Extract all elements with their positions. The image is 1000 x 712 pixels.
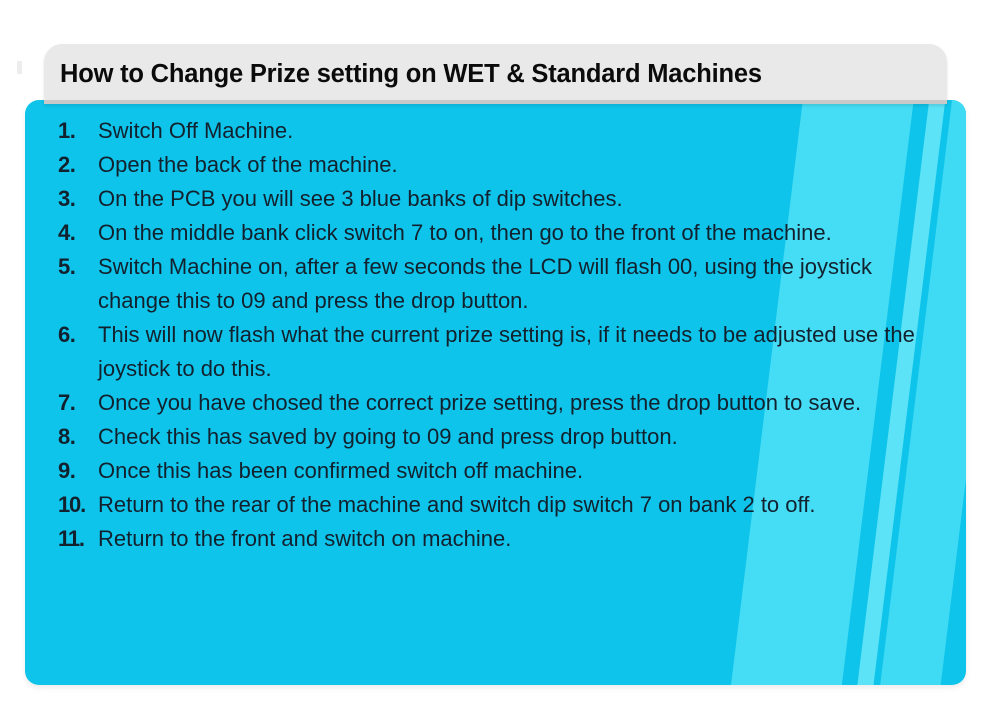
list-item: 4.On the middle bank click switch 7 to o… xyxy=(58,216,936,250)
list-item-text: Open the back of the machine. xyxy=(98,148,936,182)
list-item: 8.Check this has saved by going to 09 an… xyxy=(58,420,936,454)
list-item: 7.Once you have chosed the correct prize… xyxy=(58,386,936,420)
list-item-number: 11. xyxy=(58,522,98,556)
list-item: 5.Switch Machine on, after a few seconds… xyxy=(58,250,936,318)
list-item-number: 9. xyxy=(58,454,98,488)
list-item: 11.Return to the front and switch on mac… xyxy=(58,522,936,556)
list-item-text: Switch Machine on, after a few seconds t… xyxy=(98,250,936,318)
list-item-number: 8. xyxy=(58,420,98,454)
edge-artifact xyxy=(17,61,22,74)
steps-list: 1.Switch Off Machine.2.Open the back of … xyxy=(58,114,936,556)
list-item-text: This will now flash what the current pri… xyxy=(98,318,936,386)
list-item-text: Return to the front and switch on machin… xyxy=(98,522,936,556)
list-item-text: Return to the rear of the machine and sw… xyxy=(98,488,936,522)
list-item-text: On the PCB you will see 3 blue banks of … xyxy=(98,182,936,216)
list-item-text: On the middle bank click switch 7 to on,… xyxy=(98,216,936,250)
list-item: 1.Switch Off Machine. xyxy=(58,114,936,148)
list-item-number: 4. xyxy=(58,216,98,250)
list-item-number: 3. xyxy=(58,182,98,216)
list-item-number: 1. xyxy=(58,114,98,148)
list-item: 10.Return to the rear of the machine and… xyxy=(58,488,936,522)
list-item-text: Once you have chosed the correct prize s… xyxy=(98,386,936,420)
list-item-text: Switch Off Machine. xyxy=(98,114,936,148)
page-title: How to Change Prize setting on WET & Sta… xyxy=(60,60,762,89)
list-item-number: 5. xyxy=(58,250,98,284)
list-item-number: 2. xyxy=(58,148,98,182)
list-item-number: 6. xyxy=(58,318,98,352)
list-item-text: Check this has saved by going to 09 and … xyxy=(98,420,936,454)
list-item: 6.This will now flash what the current p… xyxy=(58,318,936,386)
header-card: How to Change Prize setting on WET & Sta… xyxy=(44,44,947,104)
list-item: 2.Open the back of the machine. xyxy=(58,148,936,182)
list-item-number: 7. xyxy=(58,386,98,420)
list-item-number: 10. xyxy=(58,488,98,522)
list-item-text: Once this has been confirmed switch off … xyxy=(98,454,936,488)
list-item: 3.On the PCB you will see 3 blue banks o… xyxy=(58,182,936,216)
list-item: 9.Once this has been confirmed switch of… xyxy=(58,454,936,488)
instructions-panel: 1.Switch Off Machine.2.Open the back of … xyxy=(25,100,966,685)
